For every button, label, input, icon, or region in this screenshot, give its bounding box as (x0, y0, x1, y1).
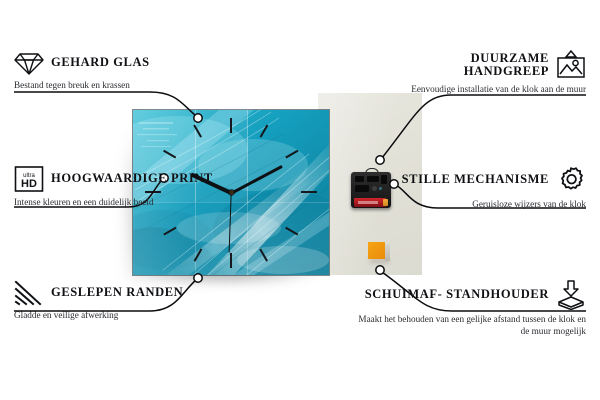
callout-title: DUURZAME HANDGREEP (386, 52, 549, 79)
glass-grid-line (247, 110, 248, 275)
callout-title: SCHUIMAF- STANDHOUDER (365, 288, 549, 302)
infographic-canvas: GEHARD GLAS Bestand tegen breuk en krass… (0, 0, 600, 400)
mechanism-body (351, 172, 391, 208)
callout-subtitle: Maakt het behouden van een gelijke afsta… (356, 314, 586, 337)
callout-subtitle: Geruisloze wijzers van de klok (386, 199, 586, 211)
callout-title: GEHARD GLAS (51, 56, 150, 70)
gear-icon (556, 165, 586, 195)
callout-geslepen-randen: GESLEPEN RANDEN Gladde en veilige afwerk… (14, 280, 224, 322)
mechanism-detail (372, 186, 377, 191)
callout-stille-mechanisme: STILLE MECHANISME Geruisloze wijzers van… (386, 165, 586, 211)
callout-title: GESLEPEN RANDEN (51, 286, 183, 300)
clock-mechanism (351, 168, 391, 208)
callout-gehard-glas: GEHARD GLAS Bestand tegen breuk en krass… (14, 50, 214, 92)
ultra-hd-icon: ultra HD (14, 165, 44, 193)
foam-pad-side (385, 244, 390, 261)
callout-header: ultra HD HOOGWAARDIGE PRINT (14, 165, 224, 193)
mechanism-detail (355, 176, 364, 182)
ultra-hd-icon-large-label: HD (21, 178, 37, 190)
framed-picture-hanger-icon (556, 50, 586, 80)
callout-title: HOOGWAARDIGE PRINT (51, 172, 213, 186)
mechanism-battery (354, 198, 386, 207)
callout-subtitle: Intense kleuren en een duidelijk beeld (14, 197, 224, 209)
mechanism-detail (367, 176, 379, 182)
callout-header: GEHARD GLAS (14, 50, 214, 76)
callout-subtitle: Eenvoudige installatie van de klok aan d… (386, 84, 586, 96)
foam-spacer-pad (368, 242, 390, 262)
mechanism-detail (379, 187, 382, 190)
clock-tick (301, 191, 317, 193)
callout-duurzame-handgreep: DUURZAME HANDGREEP Eenvoudige installati… (386, 50, 586, 96)
battery-label-stripe (358, 201, 378, 204)
beveled-edge-lines-icon (14, 280, 44, 306)
clock-tick (230, 253, 232, 268)
arrow-down-pad-icon (556, 280, 586, 310)
callout-hoogwaardige-print: ultra HD HOOGWAARDIGE PRINT Intense kleu… (14, 165, 224, 209)
callout-header: DUURZAME HANDGREEP (386, 50, 586, 80)
callout-subtitle: Bestand tegen breuk en krassen (14, 80, 214, 92)
clock-tick (230, 118, 232, 133)
callout-header: SCHUIMAF- STANDHOUDER (356, 280, 586, 310)
mechanism-detail (355, 185, 369, 192)
callout-header: STILLE MECHANISME (386, 165, 586, 195)
callout-header: GESLEPEN RANDEN (14, 280, 224, 306)
foam-pad-top (368, 242, 385, 259)
diamond-icon (14, 50, 44, 76)
clock-center-hub (229, 190, 234, 195)
callout-subtitle: Gladde en veilige afwerking (14, 310, 224, 322)
callout-schuimaf-standhouder: SCHUIMAF- STANDHOUDER Maakt het behouden… (356, 280, 586, 337)
callout-title: STILLE MECHANISME (402, 173, 549, 187)
